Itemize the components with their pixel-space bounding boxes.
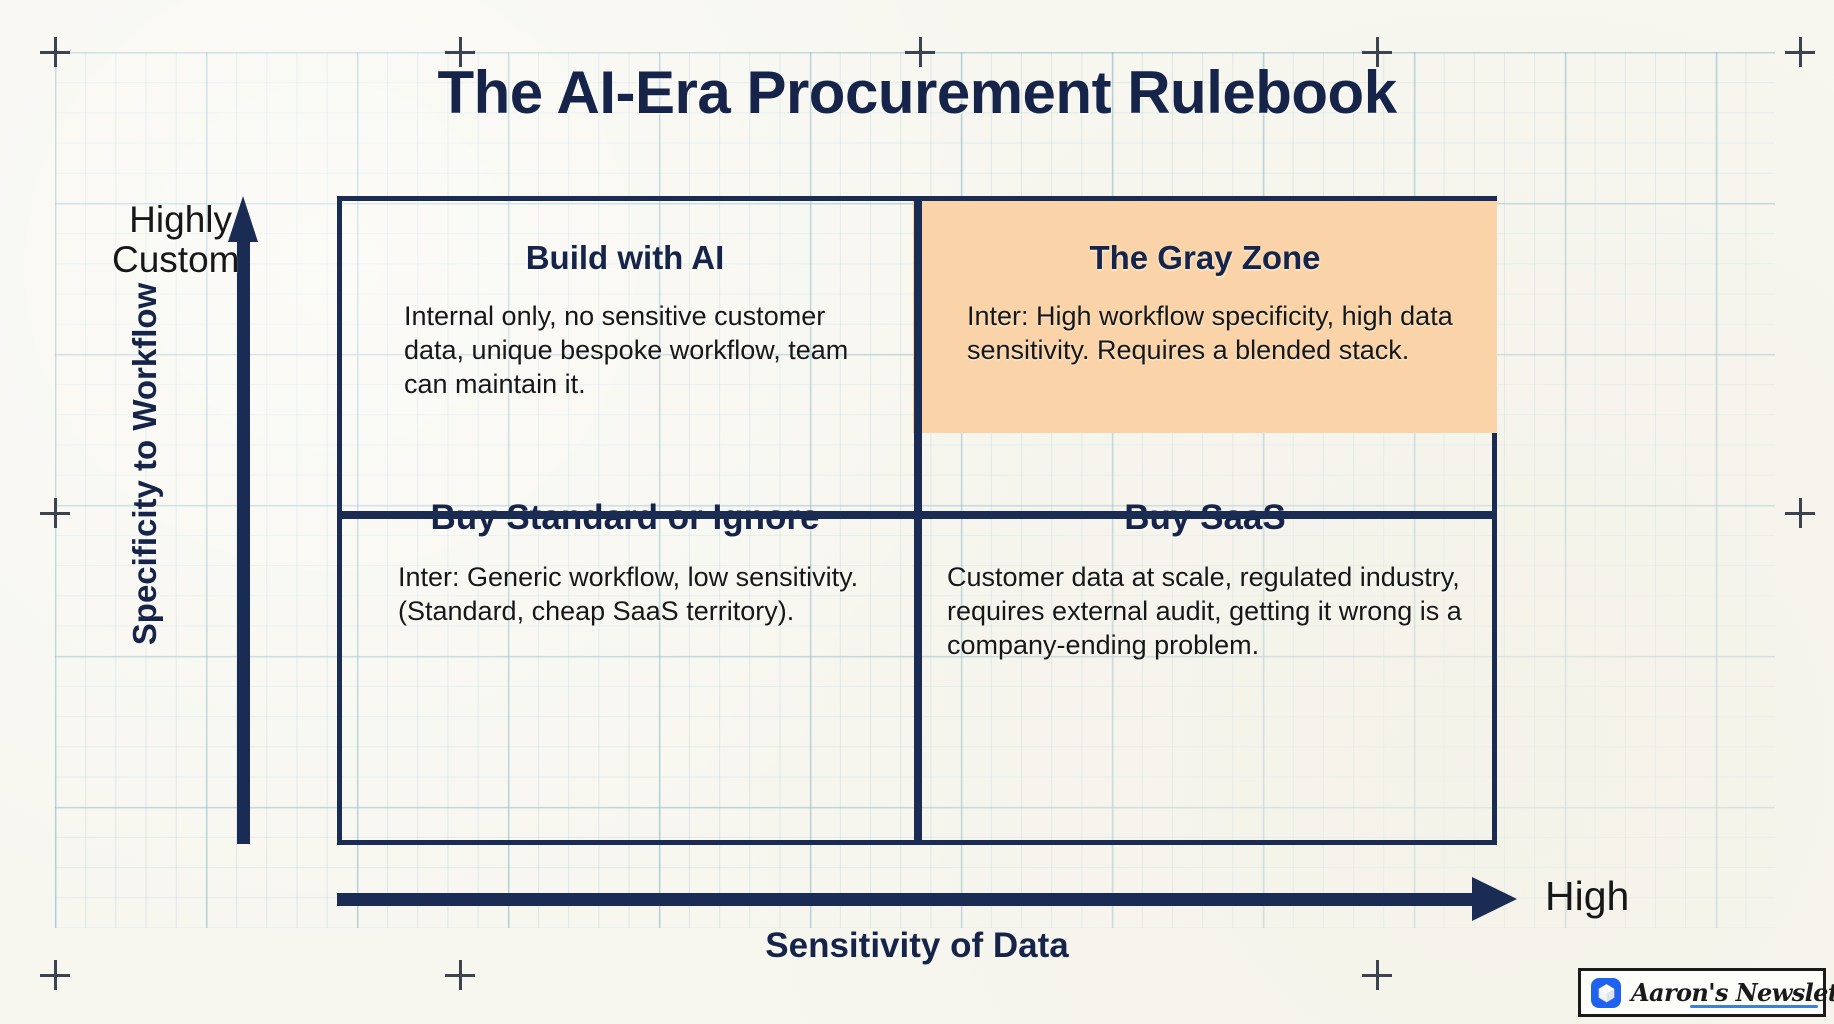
y-axis-line [237, 236, 250, 844]
quadrant-body: Inter: Generic workflow, low sensitivity… [368, 560, 882, 628]
quadrant-title: The Gray Zone [939, 239, 1471, 277]
quadrant-the-gray-zone[interactable]: The Gray Zone Inter: High workflow speci… [913, 201, 1497, 433]
hexagon-cube-icon [1591, 978, 1621, 1008]
arrow-right-icon [1472, 877, 1517, 921]
y-axis-title: Specificity to Workflow [126, 224, 164, 704]
quadrant-body: Internal only, no sensitive customer dat… [368, 299, 882, 401]
quadrant-body: Inter: High workflow specificity, high d… [939, 299, 1471, 367]
page-title: The AI-Era Procurement Rulebook [0, 58, 1834, 127]
watermark-underline [1690, 1005, 1818, 1008]
quadrant-build-with-ai[interactable]: Build with AI Internal only, no sensitiv… [342, 201, 908, 433]
x-axis-title: Sensitivity of Data [337, 926, 1497, 966]
quadrant-buy-saas[interactable]: Buy SaaS Customer data at scale, regulat… [913, 443, 1497, 845]
diagram-canvas: The AI-Era Procurement Rulebook Highly C… [0, 0, 1834, 1024]
quadrant-title: Build with AI [368, 239, 882, 277]
crosshair-marker [40, 960, 70, 990]
quadrant-buy-standard-or-ignore[interactable]: Buy Standard or Ignore Inter: Generic wo… [342, 443, 908, 845]
crosshair-marker [40, 498, 70, 528]
watermark-badge[interactable]: Aaron's Newsletter [1578, 968, 1826, 1017]
x-axis-high-label: High [1545, 873, 1629, 920]
crosshair-marker [1785, 498, 1815, 528]
watermark-label: Aaron's Newsletter [1631, 978, 1834, 1007]
x-axis-line [337, 893, 1472, 906]
matrix-vertical-divider [914, 196, 922, 845]
quadrant-body: Customer data at scale, regulated indust… [939, 560, 1471, 662]
